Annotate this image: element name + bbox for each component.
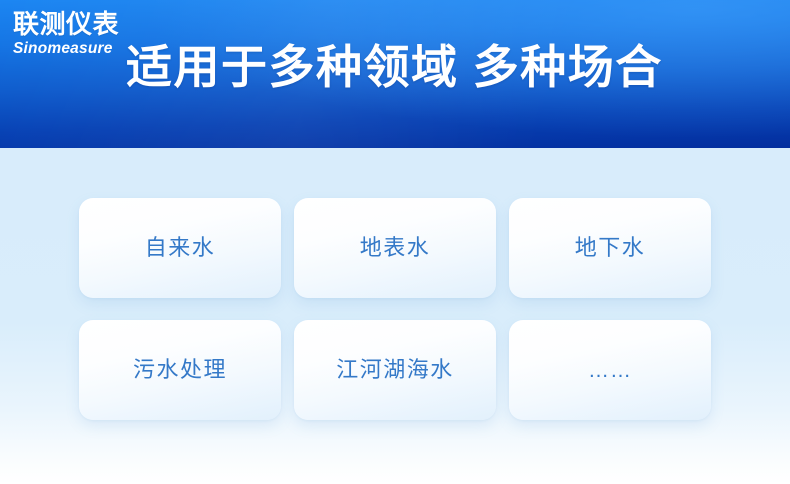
banner-title: 适用于多种领域 多种场合 (126, 42, 774, 94)
card-label: 地下水 (575, 237, 646, 259)
card-label: 地表水 (360, 237, 431, 259)
application-card-surface-water[interactable]: 地表水 (294, 198, 496, 298)
application-card-sewage-treatment[interactable]: 污水处理 (79, 320, 281, 420)
application-card-tap-water[interactable]: 自来水 (79, 198, 281, 298)
card-label: 污水处理 (133, 359, 227, 381)
promo-banner-page: 联测仪表 Sinomeasure 适用于多种领域 多种场合 自来水 地表水 地下… (0, 0, 790, 484)
application-card-groundwater[interactable]: 地下水 (509, 198, 711, 298)
card-label: 江河湖海水 (336, 359, 454, 381)
card-label-ellipsis: …… (588, 360, 632, 381)
application-card-more[interactable]: …… (509, 320, 711, 420)
brand-name-cn: 联测仪表 (13, 11, 163, 38)
application-card-river-lake-sea-water[interactable]: 江河湖海水 (294, 320, 496, 420)
application-card-grid: 自来水 地表水 地下水 污水处理 江河湖海水 …… (79, 198, 711, 420)
header-banner: 联测仪表 Sinomeasure 适用于多种领域 多种场合 (0, 0, 790, 148)
card-label: 自来水 (145, 237, 216, 259)
content-area: 自来水 地表水 地下水 污水处理 江河湖海水 …… (0, 148, 790, 484)
